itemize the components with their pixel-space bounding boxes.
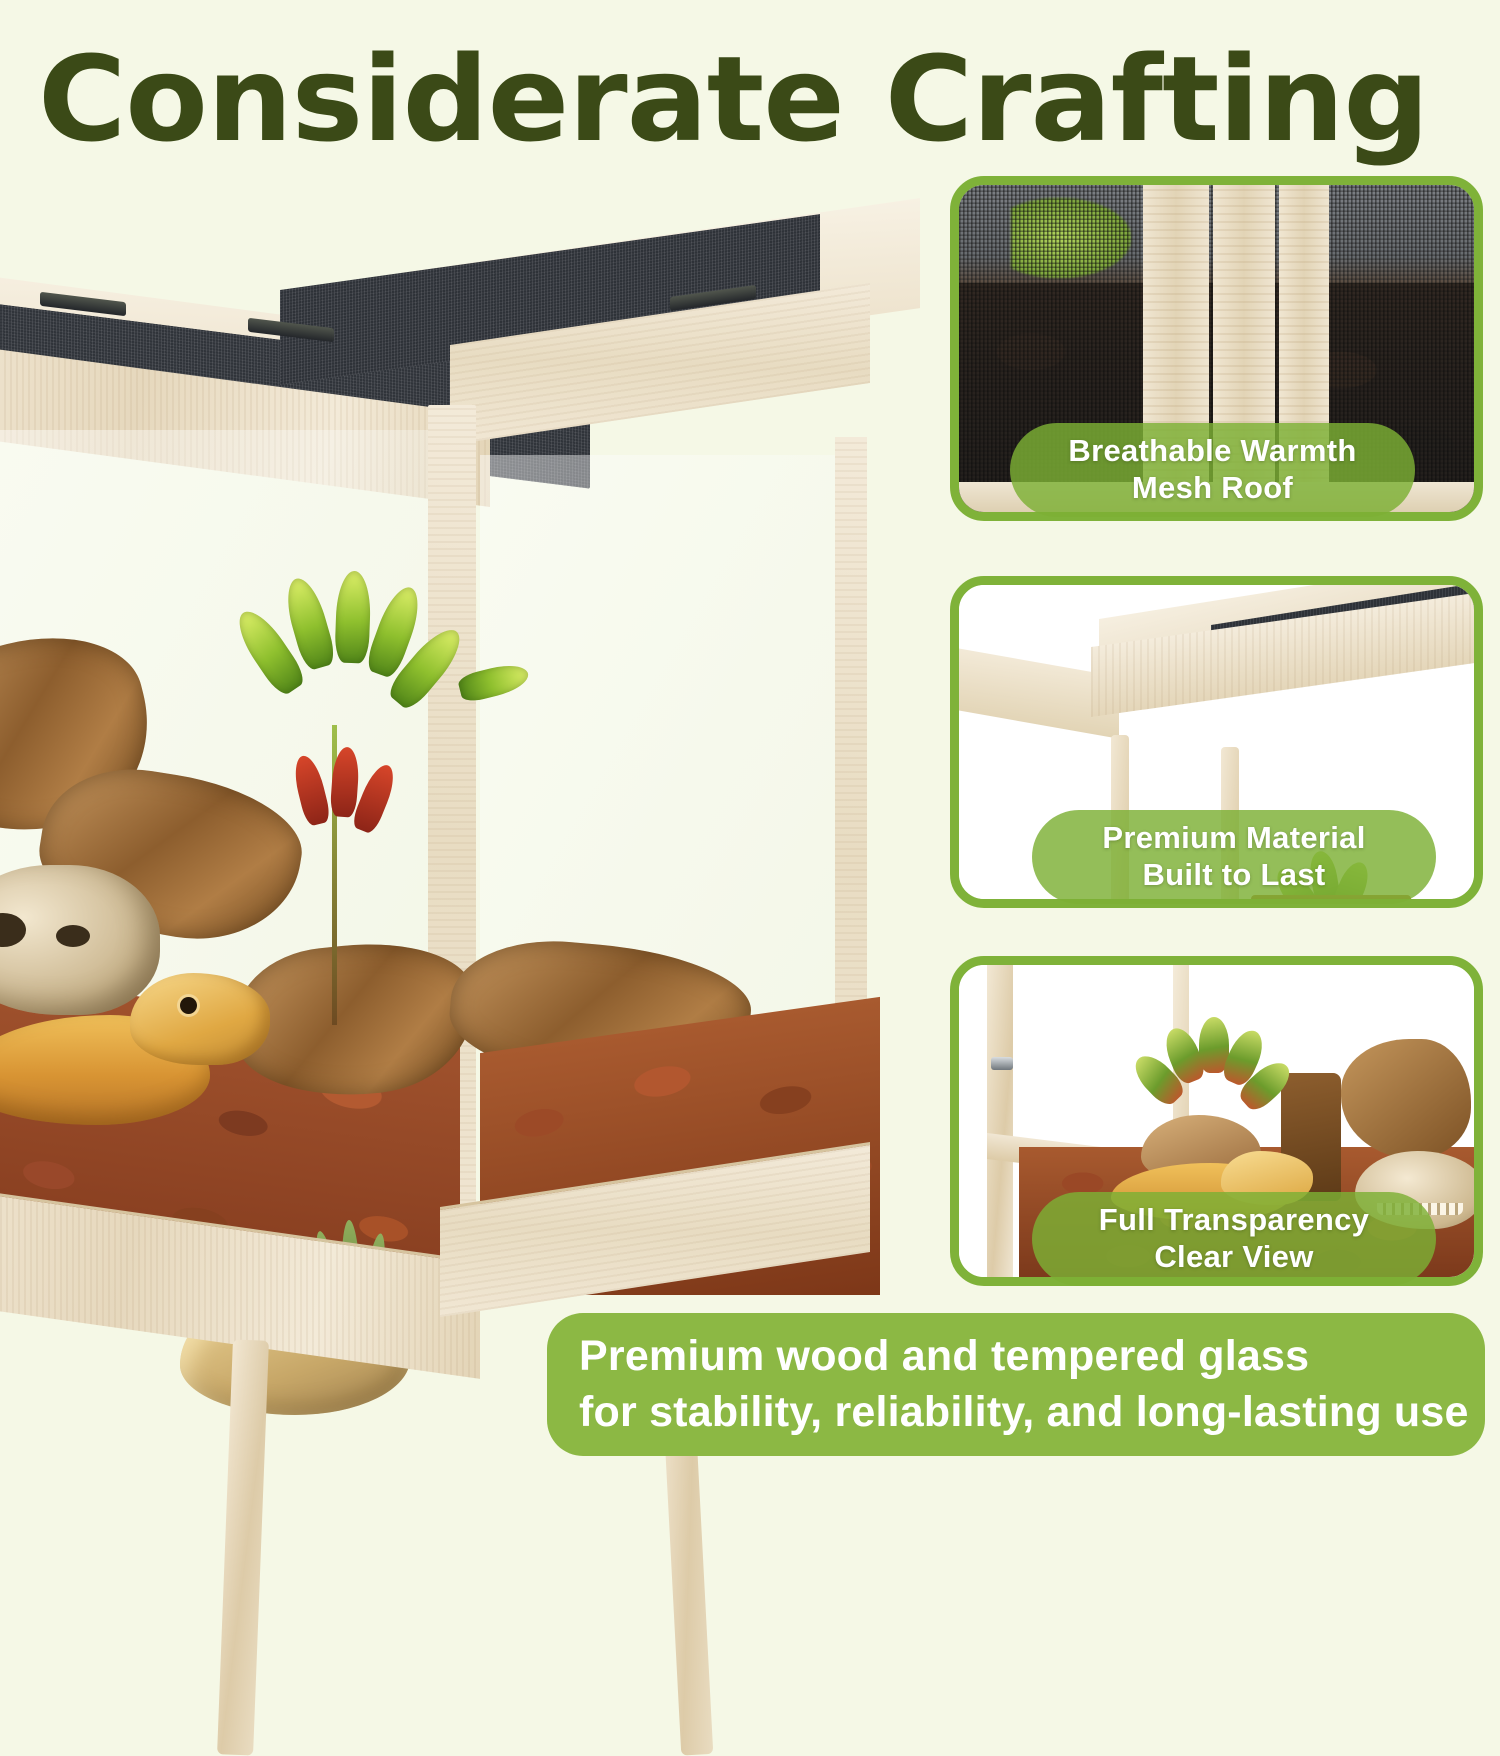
bearded-dragon-head bbox=[130, 973, 270, 1065]
bottom-caption-banner: Premium wood and tempered glass for stab… bbox=[547, 1313, 1485, 1456]
panel-label-line1: Premium Material bbox=[1102, 820, 1365, 857]
panel-label-line1: Breathable Warmth bbox=[1068, 433, 1356, 470]
corner-post bbox=[987, 965, 1013, 1277]
panel-label-line2: Built to Last bbox=[1143, 857, 1326, 894]
banner-line1: Premium wood and tempered glass bbox=[579, 1329, 1485, 1384]
panel-label-line2: Clear View bbox=[1154, 1239, 1313, 1276]
panel-label-premium-material: Premium Material Built to Last bbox=[1032, 810, 1436, 904]
skull-eye bbox=[0, 913, 26, 947]
door-latch-icon bbox=[991, 1057, 1013, 1070]
bearded-dragon-eye bbox=[180, 997, 197, 1014]
panel-label-breathable-warmth: Breathable Warmth Mesh Roof bbox=[1010, 423, 1415, 517]
panel-label-line1: Full Transparency bbox=[1099, 1202, 1369, 1239]
panel-label-line2: Mesh Roof bbox=[1132, 470, 1293, 507]
page-title: Considerate Crafting bbox=[38, 38, 1497, 162]
banner-line2: for stability, reliability, and long-las… bbox=[579, 1385, 1485, 1440]
plant-decor bbox=[1141, 1007, 1281, 1137]
skull-ornament bbox=[0, 865, 160, 1015]
panel-label-full-transparency: Full Transparency Clear View bbox=[1032, 1192, 1436, 1286]
